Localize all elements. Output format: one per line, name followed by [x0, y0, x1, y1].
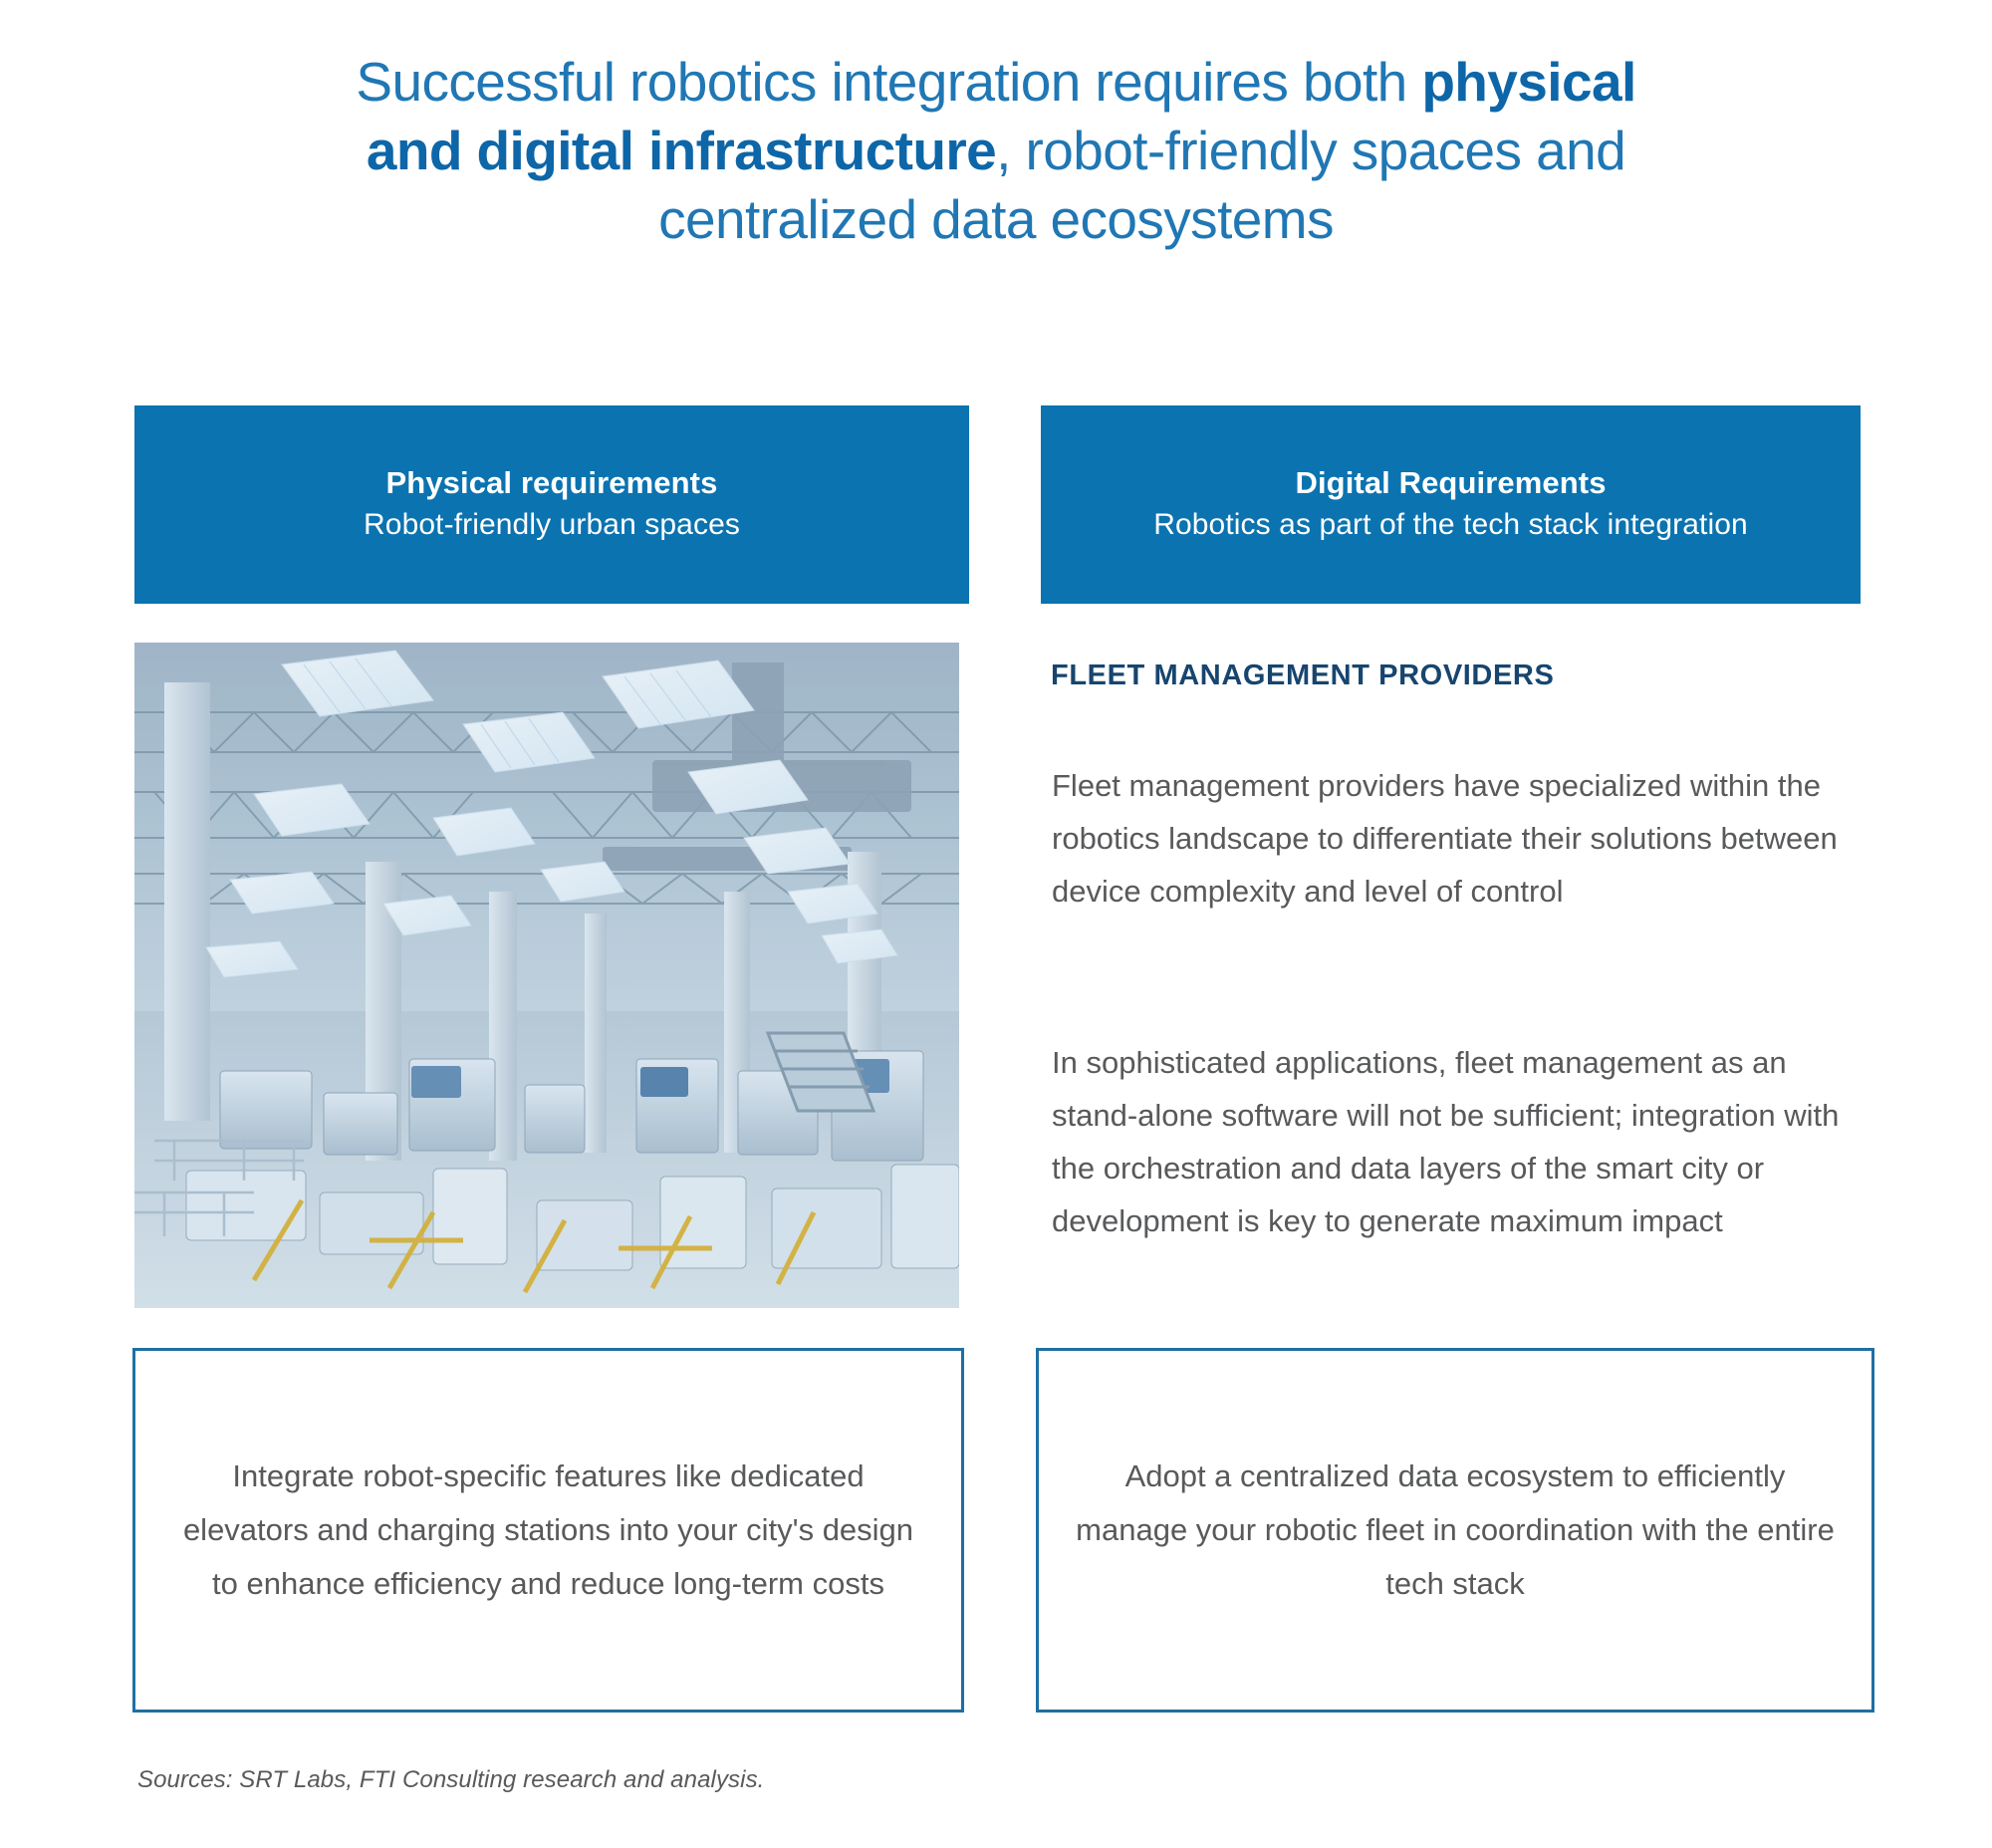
- title-line-2-regular: , robot-friendly spaces and: [996, 120, 1625, 181]
- industrial-facility-photo: [134, 643, 959, 1308]
- physical-callout-box: Integrate robot-specific features like d…: [132, 1348, 964, 1713]
- fleet-management-providers-heading: FLEET MANAGEMENT PROVIDERS: [1051, 660, 1554, 692]
- title-line-2-bold: and digital infrastructure: [367, 120, 996, 181]
- title-line-1-regular: Successful robotics integration requires…: [356, 51, 1421, 113]
- digital-paragraph-2: In sophisticated applications, fleet man…: [1052, 1036, 1868, 1247]
- digital-callout-text: Adopt a centralized data ecosystem to ef…: [1039, 1450, 1871, 1611]
- title-line-1-bold: physical: [1421, 51, 1635, 113]
- digital-header-title: Digital Requirements: [1295, 463, 1606, 503]
- physical-header-title: Physical requirements: [386, 463, 718, 503]
- title-line-2: and digital infrastructure, robot-friend…: [169, 117, 1823, 185]
- facility-illustration: [134, 643, 959, 1308]
- physical-header-subtitle: Robot-friendly urban spaces: [364, 503, 740, 547]
- sources-note: Sources: SRT Labs, FTI Consulting resear…: [137, 1766, 764, 1794]
- digital-callout-box: Adopt a centralized data ecosystem to ef…: [1036, 1348, 1874, 1713]
- physical-requirements-header: Physical requirements Robot-friendly urb…: [134, 405, 969, 604]
- page-title: Successful robotics integration requires…: [169, 48, 1823, 254]
- title-line-1: Successful robotics integration requires…: [169, 48, 1823, 117]
- physical-callout-text: Integrate robot-specific features like d…: [135, 1450, 961, 1611]
- digital-header-subtitle: Robotics as part of the tech stack integ…: [1153, 503, 1748, 547]
- digital-requirements-header: Digital Requirements Robotics as part of…: [1041, 405, 1861, 604]
- slide-root: Successful robotics integration requires…: [0, 0, 1992, 1848]
- digital-paragraph-1: Fleet management providers have speciali…: [1052, 759, 1868, 918]
- title-line-3: centralized data ecosystems: [169, 185, 1823, 254]
